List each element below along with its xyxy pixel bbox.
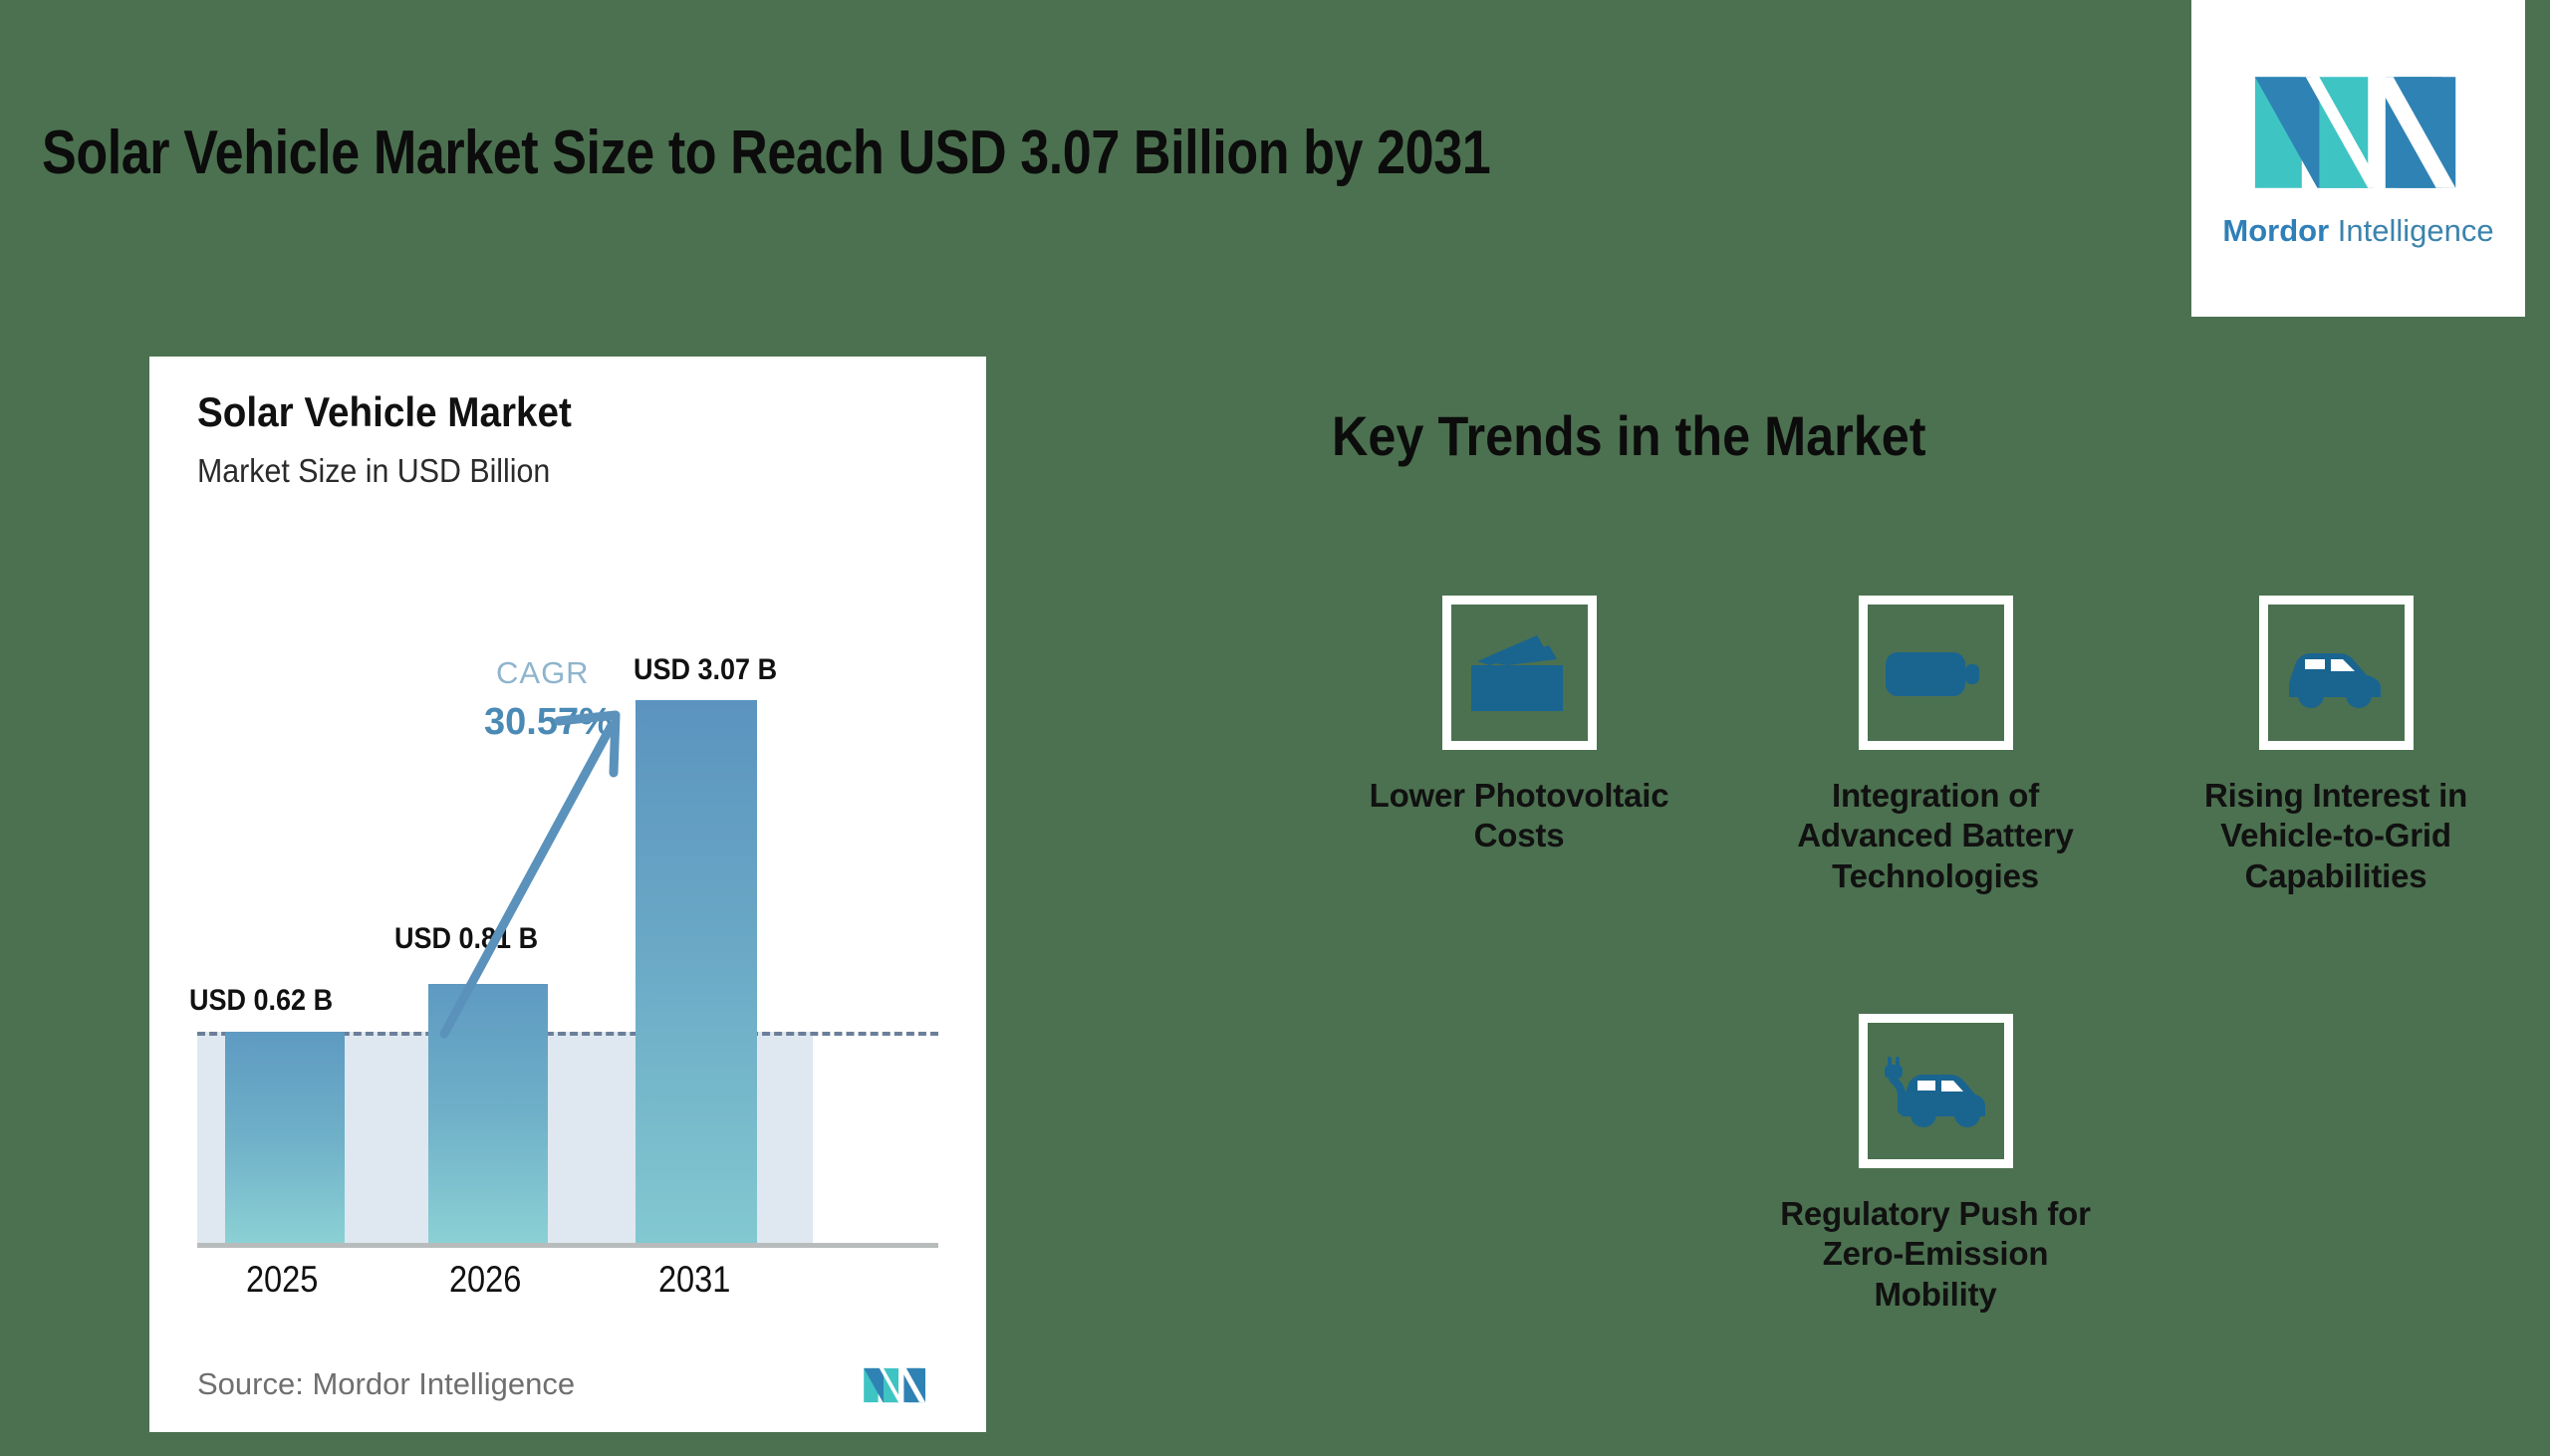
x-tick-2031: 2031 [658, 1259, 730, 1301]
chart-footer-logo-icon [863, 1364, 928, 1406]
chart-card: Solar Vehicle Market Market Size in USD … [149, 357, 986, 1432]
bar-2026 [428, 984, 548, 1243]
trend-label: Integration of Advanced Battery Technolo… [1771, 776, 2100, 896]
chart-source: Source: Mordor Intelligence [197, 1366, 575, 1402]
cagr-value: 30.57% [484, 701, 613, 744]
bar-chart-plot: USD 0.62 B USD 0.81 B USD 3.07 B CAGR 30… [197, 516, 938, 1313]
trend-item-lower-photovoltaic-costs: Lower Photovoltaic Costs [1355, 596, 1683, 856]
trend-item-vehicle-to-grid: Rising Interest in Vehicle-to-Grid Capab… [2171, 596, 2500, 896]
mordor-intelligence-logo-icon [2251, 68, 2465, 197]
brand-name-bold: Mordor [2222, 213, 2329, 248]
trend-label: Regulatory Push for Zero-Emission Mobili… [1771, 1194, 2100, 1315]
trends-heading: Key Trends in the Market [1332, 403, 1926, 468]
car-icon [2259, 596, 2414, 750]
cagr-label: CAGR [496, 655, 590, 691]
x-tick-2026: 2026 [449, 1259, 521, 1301]
bar-value-label-2026: USD 0.81 B [394, 922, 538, 956]
banknote-money-icon [1442, 596, 1597, 750]
chart-title: Solar Vehicle Market [197, 388, 572, 436]
bar-value-label-2025: USD 0.62 B [189, 984, 333, 1018]
bar-2031 [636, 700, 757, 1243]
trend-item-advanced-battery-technologies: Integration of Advanced Battery Technolo… [1771, 596, 2100, 896]
bar-value-label-2031: USD 3.07 B [634, 653, 777, 687]
brand-name: Mordor Intelligence [2222, 213, 2493, 249]
infographic-canvas: Solar Vehicle Market Size to Reach USD 3… [0, 0, 2550, 1456]
trend-label: Rising Interest in Vehicle-to-Grid Capab… [2171, 776, 2500, 896]
brand-name-light: Intelligence [2329, 213, 2493, 248]
trend-item-zero-emission-mobility: Regulatory Push for Zero-Emission Mobili… [1771, 1014, 2100, 1315]
bar-2025 [225, 1032, 345, 1243]
x-tick-2025: 2025 [246, 1259, 318, 1301]
ev-charging-car-icon [1859, 1014, 2013, 1168]
chart-subtitle: Market Size in USD Billion [197, 452, 550, 490]
brand-logo-card: Mordor Intelligence [2191, 0, 2525, 317]
trend-label: Lower Photovoltaic Costs [1355, 776, 1683, 856]
x-axis-line [197, 1243, 938, 1248]
page-title: Solar Vehicle Market Size to Reach USD 3… [42, 120, 1765, 187]
battery-icon [1859, 596, 2013, 750]
